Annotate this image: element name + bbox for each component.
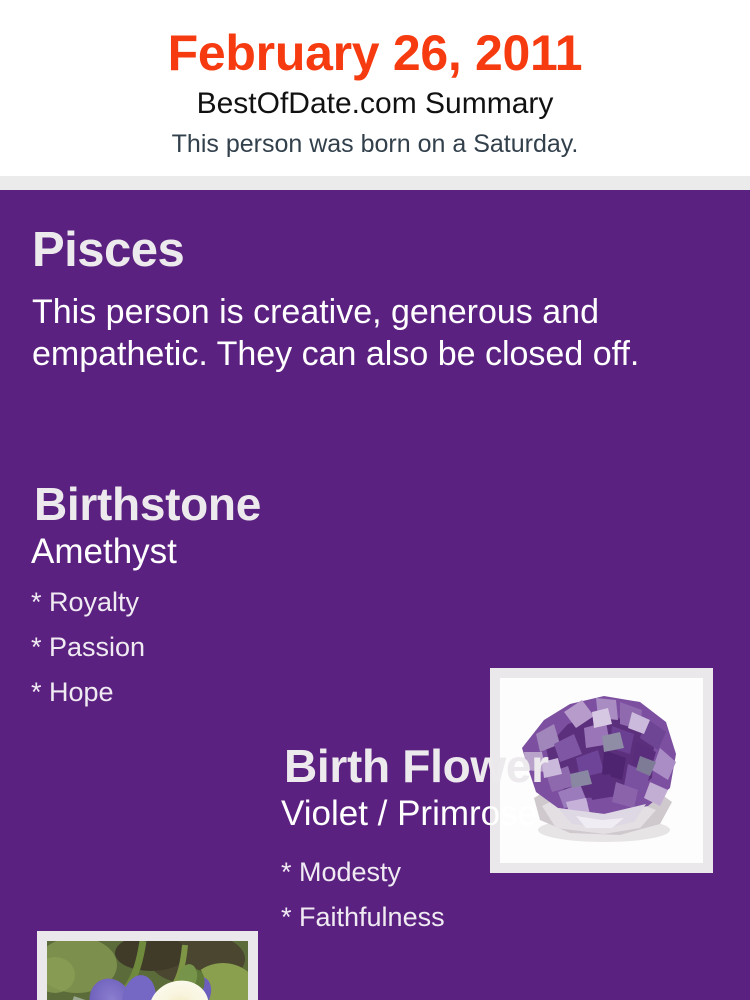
birthflower-name: Violet / Primrose	[281, 794, 537, 834]
birth-weekday-note: This person was born on a Saturday.	[0, 128, 750, 160]
birthstone-name: Amethyst	[31, 532, 177, 572]
summary-card: February 26, 2011 BestOfDate.com Summary…	[0, 0, 750, 1000]
list-item: * Passion	[31, 625, 451, 670]
list-item: * Hope	[31, 670, 451, 715]
birthstone-trait-list: * Royalty * Passion * Hope	[31, 580, 451, 715]
list-item: * Faithfulness	[281, 895, 721, 940]
header-divider	[0, 176, 750, 190]
birthflower-trait-list: * Modesty * Faithfulness	[281, 850, 721, 940]
flower-image	[47, 941, 248, 1000]
birthstone-section-title: Birthstone	[34, 478, 261, 530]
birthflower-section-title: Birth Flower	[284, 740, 549, 792]
list-item: * Modesty	[281, 850, 721, 895]
zodiac-description: This person is creative, generous and em…	[32, 291, 704, 375]
card-header: February 26, 2011 BestOfDate.com Summary…	[0, 0, 750, 176]
birthflower-photo-frame	[37, 931, 258, 1000]
content-panel: Pisces This person is creative, generous…	[0, 190, 750, 1000]
page-title-date: February 26, 2011	[0, 24, 750, 82]
zodiac-sign-title: Pisces	[32, 222, 184, 278]
violet-and-primrose-flowers-photo	[47, 941, 248, 1000]
list-item: * Royalty	[31, 580, 451, 625]
site-name-subtitle: BestOfDate.com Summary	[0, 86, 750, 122]
